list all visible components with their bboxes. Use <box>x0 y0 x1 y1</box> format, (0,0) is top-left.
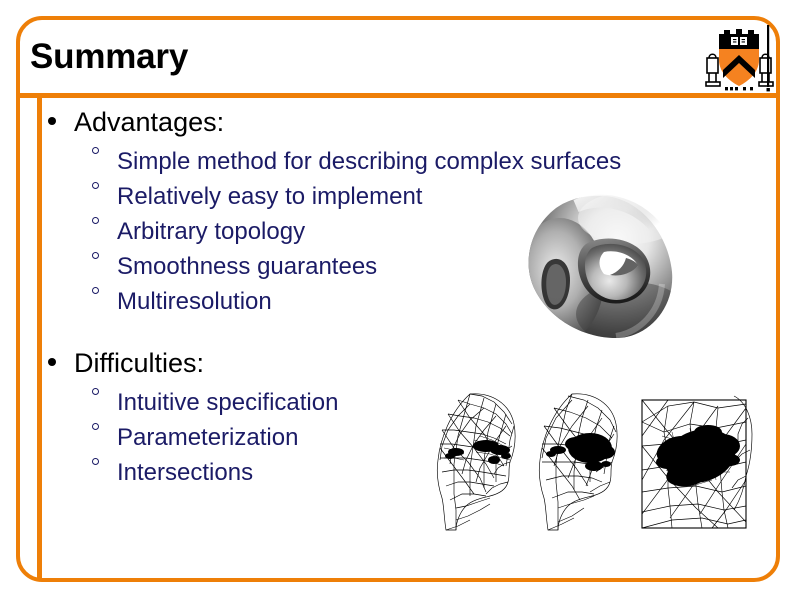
section-spacer <box>48 319 508 345</box>
list-item: Smoothness guarantees <box>92 249 508 284</box>
section-heading-difficulties: Difficulties: <box>48 345 508 381</box>
wireframe-head-meshes <box>432 388 756 540</box>
list-item-label: Multiresolution <box>117 284 272 319</box>
list-item-label: Intersections <box>117 455 253 490</box>
bullet-dot-icon <box>48 345 74 381</box>
bullet-ring-icon <box>92 420 117 430</box>
section-advantages: Advantages: Simple method for describing… <box>48 104 508 319</box>
section-heading-label: Difficulties: <box>74 345 204 381</box>
bullet-ring-icon <box>92 385 117 395</box>
princeton-shield-logo <box>703 22 777 94</box>
bullet-ring-icon <box>92 249 117 259</box>
list-item: Simple method for describing complex sur… <box>92 144 508 179</box>
bullet-ring-icon <box>92 455 117 465</box>
list-item-label: Smoothness guarantees <box>117 249 377 284</box>
bullet-dot-icon <box>48 104 74 140</box>
list-item-label: Parameterization <box>117 420 298 455</box>
list-item: Relatively easy to implement <box>92 179 508 214</box>
list-item-label: Intuitive specification <box>117 385 338 420</box>
section-heading-label: Advantages: <box>74 104 224 140</box>
section-heading-advantages: Advantages: <box>48 104 508 140</box>
bullet-ring-icon <box>92 179 117 189</box>
list-item-label: Simple method for describing complex sur… <box>117 144 621 179</box>
bullet-ring-icon <box>92 284 117 294</box>
list-item: Multiresolution <box>92 284 508 319</box>
list-item-label: Relatively easy to implement <box>117 179 422 214</box>
advantages-list: Simple method for describing complex sur… <box>48 144 508 319</box>
bullet-ring-icon <box>92 144 117 154</box>
list-item: Arbitrary topology <box>92 214 508 249</box>
slide: Summary <box>0 0 800 600</box>
content-left-rule <box>37 96 42 580</box>
list-item-label: Arbitrary topology <box>117 214 305 249</box>
subdivision-surface-torus <box>512 188 692 348</box>
page-title: Summary <box>30 37 188 77</box>
bullet-ring-icon <box>92 214 117 224</box>
header-divider <box>18 93 778 98</box>
